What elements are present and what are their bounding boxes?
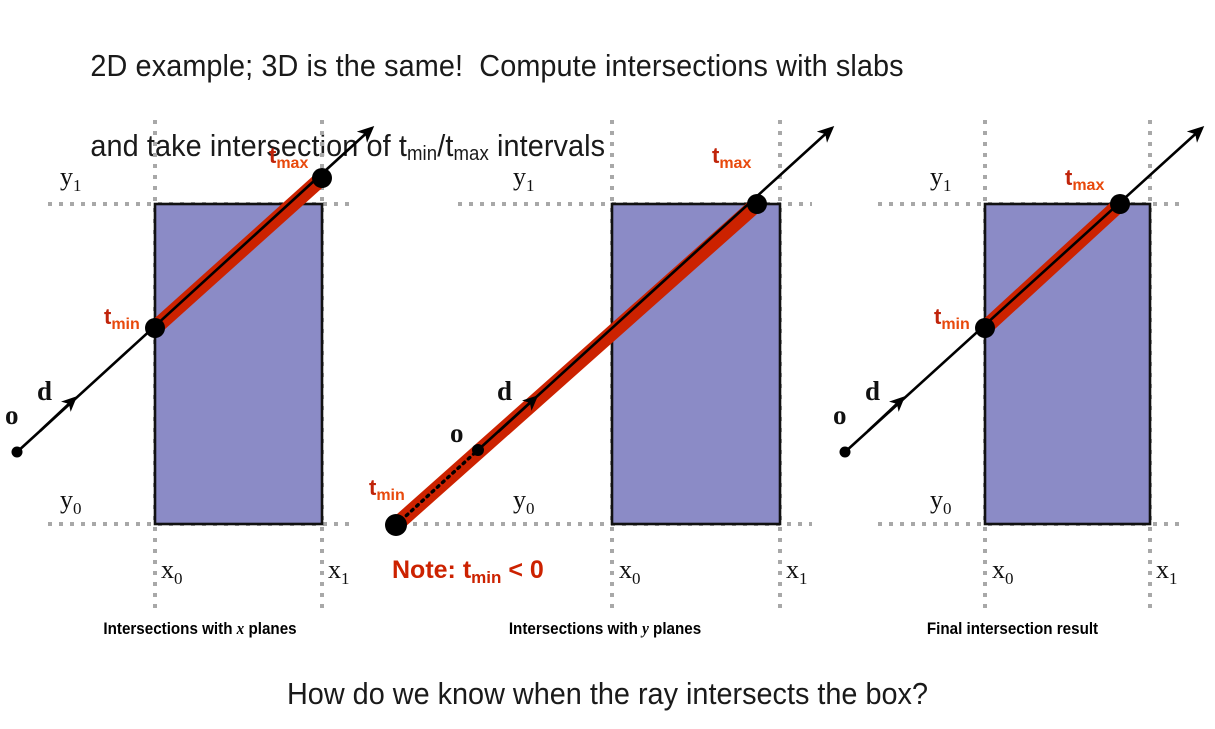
caption-var: x xyxy=(237,619,245,638)
label-y0-sub: 0 xyxy=(526,499,535,518)
label-tmax: tmax xyxy=(712,143,751,172)
caption-y-planes: Intersections with y planes xyxy=(421,619,789,639)
label-tmin: tmin xyxy=(934,304,970,333)
label-x1: x1 xyxy=(786,555,808,588)
tmax-dot xyxy=(747,194,767,214)
note-tmin-negative: Note: tmin < 0 xyxy=(392,556,544,587)
label-tmin-sub: min xyxy=(376,487,404,504)
tmax-dot xyxy=(312,168,332,188)
note-sub: min xyxy=(471,568,501,587)
label-tmax: tmax xyxy=(269,143,308,172)
label-x0-sub: 0 xyxy=(1005,569,1014,588)
label-x0: x0 xyxy=(619,555,641,588)
label-tmin: tmin xyxy=(104,304,140,333)
label-x0-sub: 0 xyxy=(632,569,641,588)
label-origin-o: o xyxy=(450,418,464,448)
caption-x-planes: Intersections with x planes xyxy=(16,619,384,639)
caption-post: planes xyxy=(244,620,296,638)
caption-pre: Intersections with xyxy=(103,620,236,638)
label-y1: y1 xyxy=(60,162,82,195)
ray-origin-dot xyxy=(472,444,484,456)
label-x1-sub: 1 xyxy=(341,569,350,588)
label-tmin-sub: min xyxy=(941,316,969,333)
label-tmin: tmin xyxy=(369,475,405,504)
label-y0: y0 xyxy=(930,485,952,518)
label-tmax-sub: max xyxy=(276,155,308,172)
tmax-dot xyxy=(1110,194,1130,214)
note-post: < 0 xyxy=(501,556,543,584)
tmin-dot xyxy=(385,514,407,536)
tmin-dot xyxy=(145,318,165,338)
caption-post: Final intersection result xyxy=(927,620,1098,638)
slide-canvas: 2D example; 3D is the same! Compute inte… xyxy=(0,0,1215,729)
panel-y-planes: y1 y0 x0 x1 o d tmin tmax Note: tmin < 0 xyxy=(369,120,832,610)
label-x1: x1 xyxy=(1156,555,1178,588)
ray-origin-dot xyxy=(840,447,851,458)
closing-question: How do we know when the ray intersects t… xyxy=(43,676,1173,712)
panel-final-result: y1 y0 x0 x1 o d tmin tmax xyxy=(833,120,1202,610)
panel-x-planes: y1 y0 x0 x1 o d tmin tmax xyxy=(5,120,372,610)
caption-var: y xyxy=(642,619,649,638)
label-y1: y1 xyxy=(513,162,535,195)
label-y1-sub: 1 xyxy=(943,176,952,195)
label-x1: x1 xyxy=(328,555,350,588)
label-tmin-sub: min xyxy=(111,316,139,333)
label-y0: y0 xyxy=(513,485,535,518)
label-y0-sub: 0 xyxy=(73,499,82,518)
label-y1-sub: 1 xyxy=(526,176,535,195)
caption-post: planes xyxy=(649,620,701,638)
label-direction-d: d xyxy=(497,376,512,406)
label-x0-sub: 0 xyxy=(174,569,183,588)
label-y0-sub: 0 xyxy=(943,499,952,518)
ray-origin-dot xyxy=(12,447,23,458)
label-origin-o: o xyxy=(833,400,847,430)
label-y0: y0 xyxy=(60,485,82,518)
label-tmax: tmax xyxy=(1065,165,1104,194)
label-tmax-sub: max xyxy=(719,155,751,172)
label-y1-sub: 1 xyxy=(73,176,82,195)
label-tmax-sub: max xyxy=(1072,177,1104,194)
label-direction-d: d xyxy=(37,376,52,406)
tmin-dot xyxy=(975,318,995,338)
caption-final-result: Final intersection result xyxy=(826,619,1199,639)
label-x1-sub: 1 xyxy=(1169,569,1178,588)
label-y1: y1 xyxy=(930,162,952,195)
label-x1-sub: 1 xyxy=(799,569,808,588)
caption-pre: Intersections with xyxy=(509,620,642,638)
ray-negative-dotted xyxy=(396,450,478,525)
label-origin-o: o xyxy=(5,400,19,430)
label-x0: x0 xyxy=(992,555,1014,588)
label-x0: x0 xyxy=(161,555,183,588)
label-direction-d: d xyxy=(865,376,880,406)
